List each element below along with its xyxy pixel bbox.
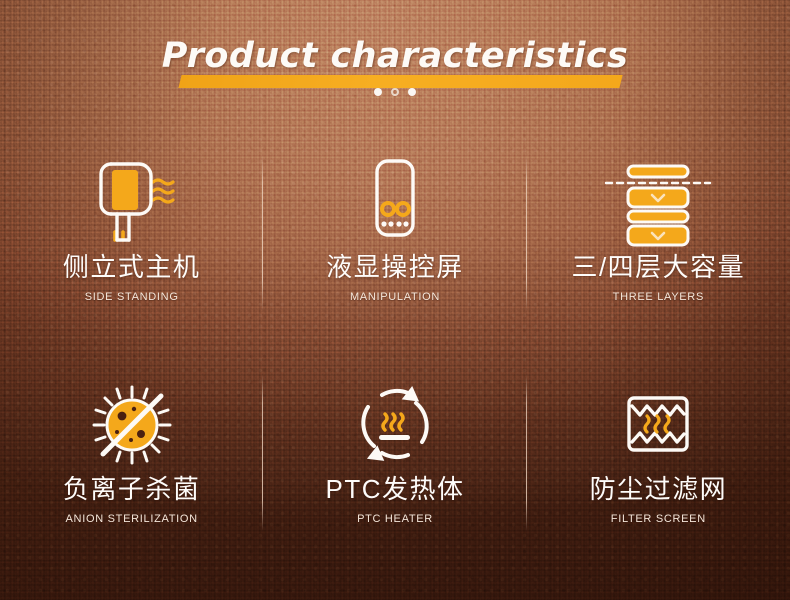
banner-header: Product characteristics xyxy=(0,36,790,96)
carousel-dots xyxy=(0,88,790,96)
feature-label-cn: 侧立式主机 xyxy=(63,253,201,282)
feature-label-cn: PTC发热体 xyxy=(325,475,464,504)
carousel-dot-2[interactable] xyxy=(391,88,399,96)
feature-label-en: PTC HEATER xyxy=(357,513,433,525)
title-highlight-bar xyxy=(178,75,622,88)
feature-label-en: FILTER SCREEN xyxy=(611,513,706,525)
carousel-dot-3[interactable] xyxy=(408,88,416,96)
feature-card-anion-sterilization: 负离子杀菌 ANION STERILIZATION xyxy=(0,353,263,573)
product-characteristics-banner: Product characteristics xyxy=(0,0,790,600)
feature-label-cn: 防尘过滤网 xyxy=(590,475,728,504)
feature-label-en: THREE LAYERS xyxy=(613,291,704,303)
germ-crossed-out-icon xyxy=(89,375,175,475)
feature-label-cn: 负离子杀菌 xyxy=(63,475,201,504)
feature-label-en: ANION STERILIZATION xyxy=(66,513,198,525)
feature-card-three-layers: 三/四层大容量 THREE LAYERS xyxy=(527,133,790,353)
stacked-layers-icon xyxy=(602,147,714,253)
pleated-filter-icon xyxy=(615,375,701,475)
feature-card-manipulation: 液显操控屏 MANIPULATION xyxy=(263,133,526,353)
side-standing-unit-icon xyxy=(89,147,175,253)
feature-label-en: SIDE STANDING xyxy=(85,291,179,303)
heat-circulation-icon xyxy=(352,375,438,475)
lcd-control-panel-icon xyxy=(359,147,431,253)
page-title: Product characteristics xyxy=(162,36,629,76)
feature-card-ptc-heater: PTC发热体 PTC HEATER xyxy=(263,353,526,573)
feature-card-filter-screen: 防尘过滤网 FILTER SCREEN xyxy=(527,353,790,573)
feature-label-cn: 液显操控屏 xyxy=(326,253,464,282)
title-wrap: Product characteristics xyxy=(148,36,643,76)
feature-grid: 侧立式主机 SIDE STANDING xyxy=(0,133,790,573)
feature-label-en: MANIPULATION xyxy=(350,291,440,303)
feature-label-cn: 三/四层大容量 xyxy=(571,253,745,282)
feature-card-side-standing: 侧立式主机 SIDE STANDING xyxy=(0,133,263,353)
carousel-dot-1[interactable] xyxy=(374,88,382,96)
